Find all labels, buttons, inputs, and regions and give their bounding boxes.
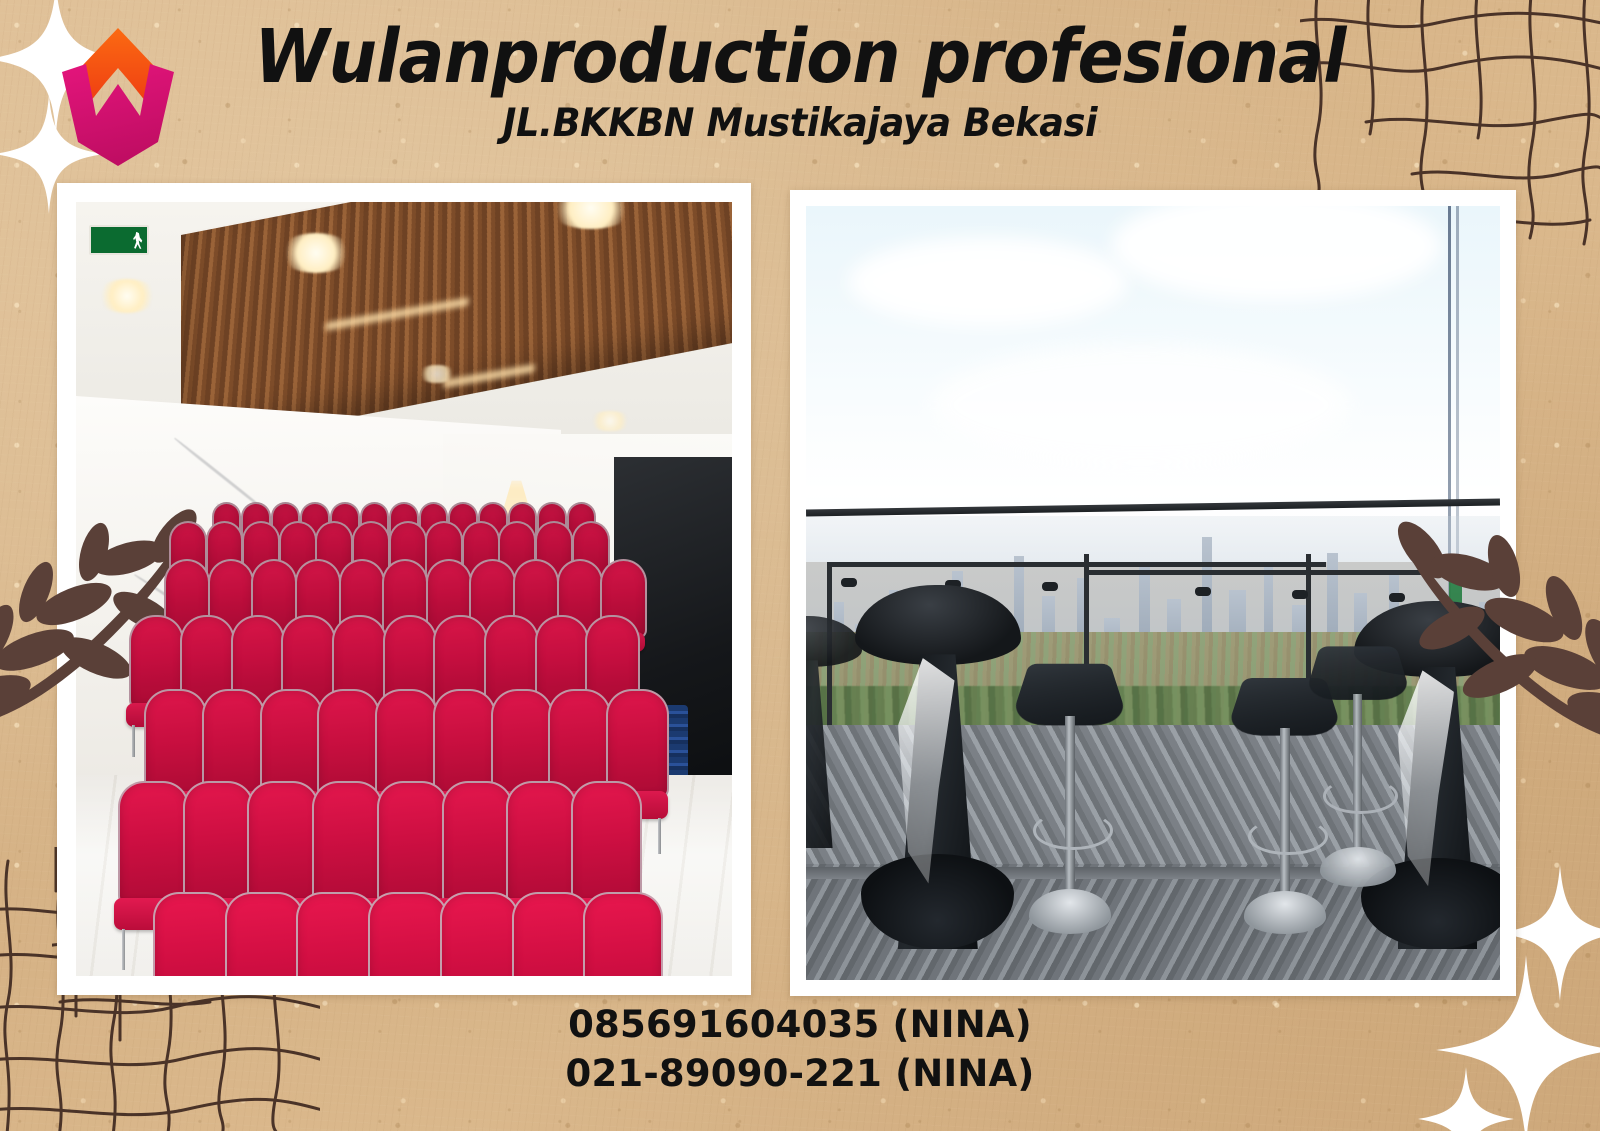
exit-sign-icon <box>89 225 149 255</box>
cocktail-table-left <box>855 585 1022 949</box>
contact-block: 085691604035 (NINA) 021-89090-221 (NINA) <box>0 1000 1600 1098</box>
contact-mobile: 085691604035 (NINA) <box>0 1000 1600 1049</box>
photo-rooftop-terrace-cocktail-tables <box>806 206 1500 980</box>
red-banquet-chair <box>153 892 229 976</box>
poster-canvas: Wulanproduction profesional JL.BKKBN Mus… <box>0 0 1600 1131</box>
cocktail-table-far-left <box>806 616 862 848</box>
red-banquet-chair <box>225 892 301 976</box>
red-banquet-chair <box>440 892 516 976</box>
chair-backrest <box>312 781 383 906</box>
bar-stool-left <box>1021 655 1118 934</box>
red-banquet-chair <box>512 892 588 976</box>
chair-backrest <box>118 781 189 906</box>
photo-frame-rooftop-terrace <box>790 190 1516 996</box>
contact-landline: 021-89090-221 (NINA) <box>0 1049 1600 1098</box>
chair-backrest <box>440 892 520 976</box>
chair-leg <box>132 725 135 756</box>
chair-backrest <box>512 892 592 976</box>
page-subtitle: JL.BKKBN Mustikajaya Bekasi <box>48 101 1552 146</box>
chair-backrest <box>583 892 663 976</box>
chair-backrest <box>377 781 448 906</box>
page-title: Wulanproduction profesional <box>64 14 1536 100</box>
red-banquet-chair <box>296 892 372 976</box>
chair-backrest <box>247 781 318 906</box>
chair-backrest <box>296 892 376 976</box>
chair-backrest <box>225 892 305 976</box>
red-banquet-chair <box>583 892 659 976</box>
chair-backrest <box>368 892 448 976</box>
chair-leg <box>658 818 661 854</box>
red-banquet-chair <box>368 892 444 976</box>
chair-backrest <box>506 781 577 906</box>
chair-backrest <box>571 781 642 906</box>
photo-banquet-hall-red-chairs <box>76 202 732 976</box>
chair-backrest <box>442 781 513 906</box>
chair-backrest <box>183 781 254 906</box>
chair-leg <box>122 929 125 971</box>
chair-backrest <box>153 892 233 976</box>
bar-stool-far-right <box>1313 639 1403 887</box>
photo-frame-banquet-hall <box>57 183 751 995</box>
